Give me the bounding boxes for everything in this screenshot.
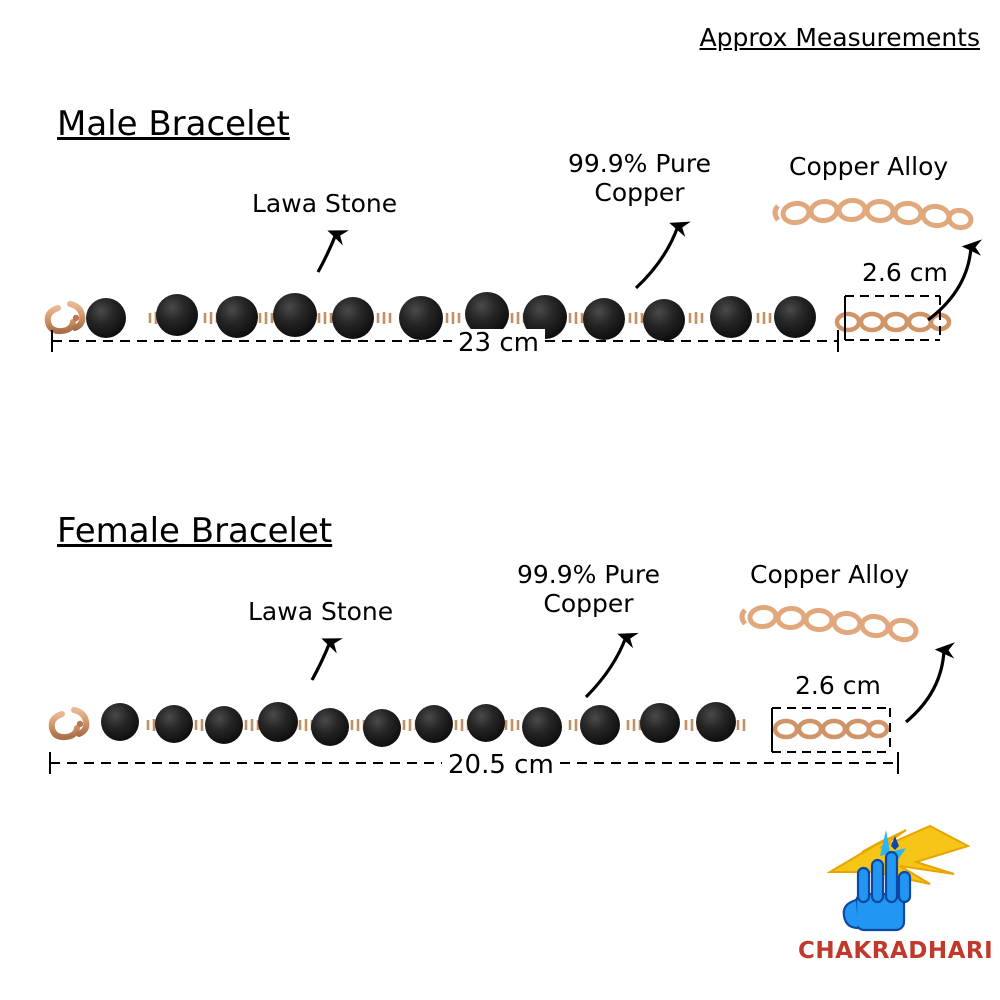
female-total-length-label: 20.5 cm: [442, 751, 560, 781]
male-copper-alloy-chain-icon: [775, 200, 972, 230]
approx-measurements-heading: Approx Measurements: [700, 24, 981, 53]
male-bracelet-title: Male Bracelet: [57, 105, 290, 144]
female-pure-copper-line2: Copper: [543, 589, 633, 618]
female-copper-alloy-chain-icon: [742, 606, 917, 641]
male-copper-arrow: [636, 226, 678, 288]
female-alloy-arrow: [906, 650, 944, 722]
male-extender-length-label: 2.6 cm: [862, 259, 948, 288]
male-stone-arrow: [318, 234, 336, 272]
male-total-length-label: 23 cm: [452, 329, 545, 359]
female-clasp-icon: [52, 710, 87, 737]
female-copper-arrow: [586, 637, 626, 697]
male-copper-alloy-label: Copper Alloy: [789, 153, 948, 182]
male-pure-copper-line2: Copper: [594, 178, 684, 207]
brand-logo-icon: [812, 822, 990, 934]
diagram-canvas: [0, 0, 1000, 1000]
male-lawa-stone-label: Lawa Stone: [252, 190, 397, 219]
female-lawa-stone-label: Lawa Stone: [248, 598, 393, 627]
female-pure-copper-line1: 99.9% Pure: [517, 560, 660, 589]
male-clasp-icon: [48, 304, 83, 331]
brand-name: CHAKRADHARI: [798, 938, 993, 964]
female-copper-alloy-label: Copper Alloy: [750, 561, 909, 590]
male-pure-copper-label: 99.9% Pure Copper: [568, 150, 711, 208]
male-pure-copper-line1: 99.9% Pure: [568, 149, 711, 178]
female-extender-length-label: 2.6 cm: [795, 672, 881, 701]
female-bracelet-title: Female Bracelet: [57, 512, 332, 551]
female-stone-arrow: [312, 642, 330, 680]
female-pure-copper-label: 99.9% Pure Copper: [517, 561, 660, 619]
female-extender-dimension: [772, 708, 890, 752]
female-extender-chain-icon: [775, 721, 887, 737]
